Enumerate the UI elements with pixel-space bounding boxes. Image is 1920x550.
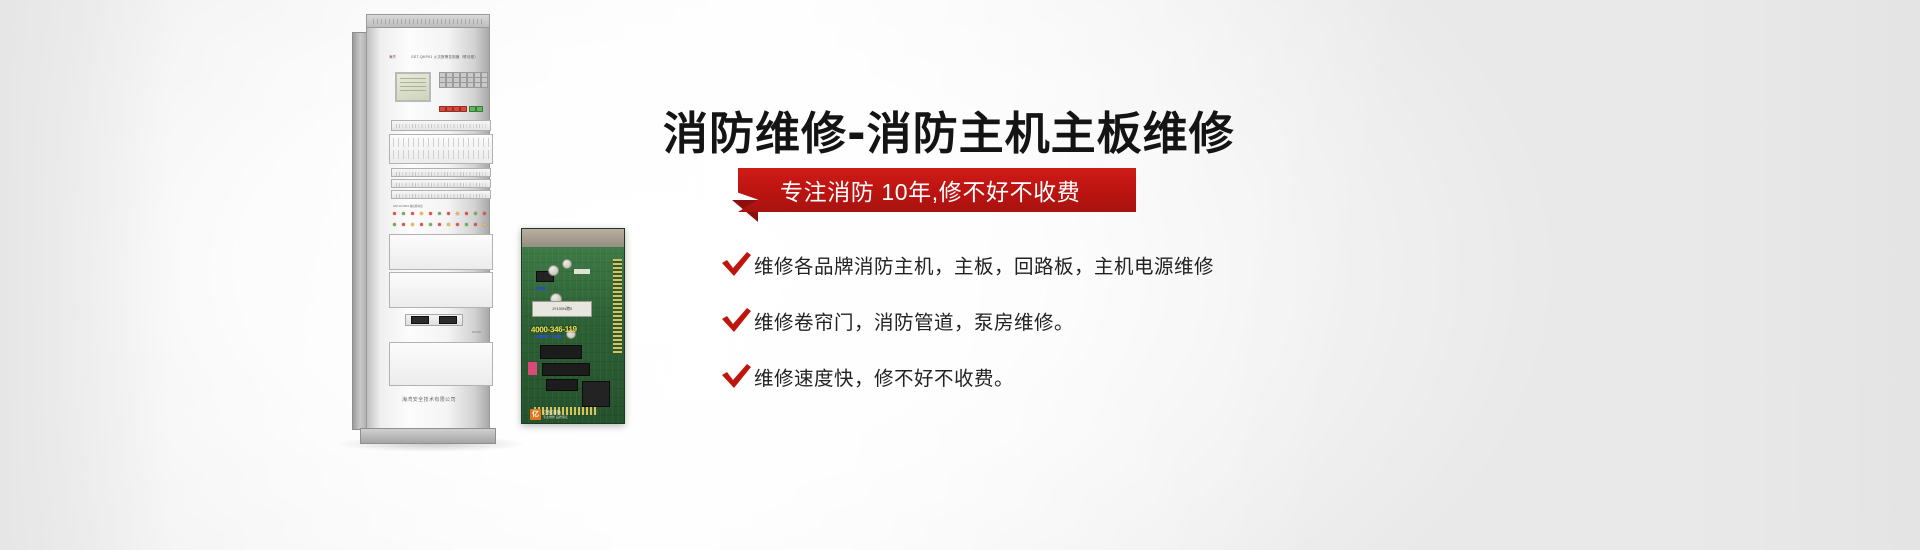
pcb-resistor-2 (536, 335, 548, 338)
cabinet-keypad (439, 72, 489, 104)
pcb-logo-text: 亿恒消防 专业维修 品质保证 (543, 410, 568, 420)
pcb-sticker-label: JY100N港0 (532, 301, 592, 317)
list-item: 维修卷帘门，消防管道，泵房维修。 (720, 298, 1300, 342)
pcb-capacitor-1 (548, 265, 559, 276)
cabinet-blank-panel-2 (389, 272, 493, 308)
cabinet-power-meter (405, 314, 463, 326)
pcb-chip-3 (542, 363, 590, 376)
cabinet-loop-slot-1 (391, 168, 491, 177)
cabinet-lcd-screen (395, 72, 431, 102)
list-item: 维修速度快，修不好不收费。 (720, 354, 1300, 398)
cabinet-top-vent (366, 14, 490, 28)
banner-content: 消防维修-消防主机主板维修 专注消防 10年,修不好不收费 维修各品牌消防主机，… (660, 0, 1300, 550)
pcb-logo-tagline: 专业维修 品质保证 (543, 415, 568, 420)
tagline-ribbon: 专注消防 10年,修不好不收费 (738, 168, 1136, 212)
cabinet-base-plinth (360, 428, 496, 444)
pcb-capacitor-2 (562, 259, 572, 269)
cabinet-side-face (352, 32, 367, 430)
pcb-chip-2 (540, 345, 582, 359)
page-title: 消防维修-消防主机主板维修 (663, 97, 1235, 162)
pcb-connector (528, 362, 537, 375)
promo-banner: 海湾 GST-QKP01 火灾报警控制器（联动型） (0, 0, 1920, 550)
cabinet-status-keys (469, 106, 489, 111)
check-icon (720, 306, 754, 334)
pcb-logo-mark: 亿 (530, 409, 541, 420)
pcb-chip-4 (546, 379, 578, 391)
cabinet-power-label: DC24V (472, 330, 481, 334)
circuit-board-photo: JY100N港0 4000-346-119 亿 亿恒消防 专业维修 品质保证 (521, 228, 625, 424)
pcb-white-marking (574, 269, 590, 274)
cabinet-blank-panel-3 (389, 342, 493, 386)
cabinet-blank-panel-1 (389, 234, 493, 270)
cabinet-brand-label: 海湾 (389, 54, 396, 59)
feature-text: 维修速度快，修不好不收费。 (754, 362, 1014, 391)
cabinet-company-label: 海湾安全技术有限公司 (367, 396, 491, 403)
list-item: 维修各品牌消防主机，主板，回路板，主机电源维修 (720, 242, 1300, 286)
pcb-watermark-logo: 亿 亿恒消防 专业维修 品质保证 (530, 409, 568, 420)
pcb-gold-fingers-right (613, 259, 622, 355)
pcb-chip-5 (582, 381, 610, 407)
feature-text: 维修各品牌消防主机，主板，回路板，主机电源维修 (754, 250, 1214, 279)
pcb-resistor-3 (552, 335, 562, 338)
fire-alarm-control-panel-image: 海湾 GST-QKP01 火灾报警控制器（联动型） (352, 14, 504, 444)
pcb-phone-number: 4000-346-119 (531, 325, 577, 335)
check-icon (720, 250, 754, 278)
cabinet-loop-slot-3 (391, 190, 491, 199)
cabinet-module-slot (391, 120, 491, 131)
cabinet-led-row-2 (393, 219, 489, 231)
tagline-text: 专注消防 10年,修不好不收费 (780, 173, 1080, 207)
feature-text: 维修卷帘门，消防管道，泵房维修。 (754, 306, 1074, 335)
check-icon (720, 362, 754, 390)
pcb-logo-name: 亿恒消防 (543, 410, 561, 415)
feature-list: 维修各品牌消防主机，主板，回路板，主机电源维修 维修卷帘门，消防管道，泵房维修。… (720, 242, 1300, 410)
cabinet-loop-slot-2 (391, 179, 491, 188)
cabinet-module-panel (389, 134, 493, 164)
pcb-resistor-1 (536, 287, 546, 290)
cabinet-header-label: GST-QKP01 火灾报警控制器（联动型） (411, 54, 478, 59)
cabinet-front-face: 海湾 GST-QKP01 火灾报警控制器（联动型） (366, 27, 490, 429)
